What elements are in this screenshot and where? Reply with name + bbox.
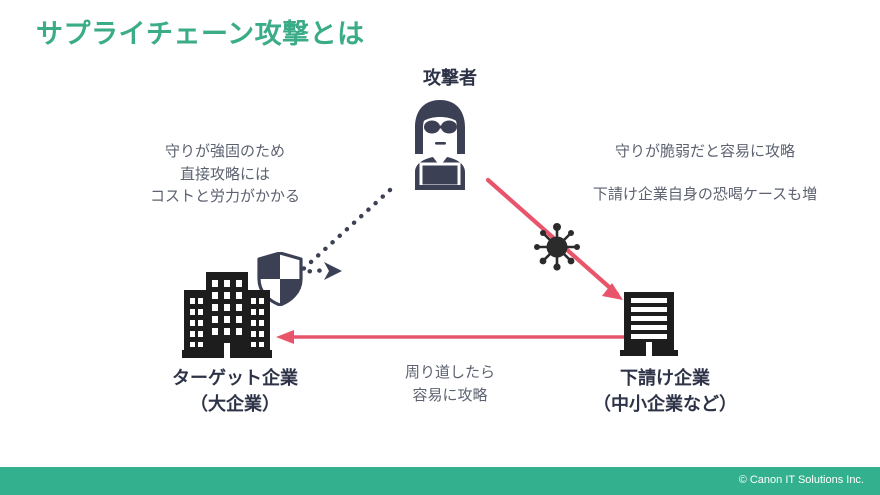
small-building-icon: [620, 292, 678, 356]
virus-icon: [532, 222, 582, 272]
office-building-icon: [182, 268, 272, 358]
supplier-company-label: 下請け企業 （中小企業など）: [550, 366, 780, 417]
note-right-top-text: 守りが脆弱だと容易に攻略: [545, 141, 865, 164]
attacker-label: 攻撃者: [350, 66, 550, 92]
note-center-text: 周り道したら 容易に攻略: [355, 362, 545, 407]
note-left-text: 守りが強固のため 直接攻略には コストと労力がかかる: [100, 141, 350, 209]
lateral-move-arrow: [276, 330, 624, 344]
hacker-at-laptop-icon: [397, 98, 483, 190]
target-company-label: ターゲット企業 （大企業）: [120, 366, 350, 417]
footer-bar: © Canon IT Solutions Inc.: [0, 467, 880, 495]
note-right-bottom-text: 下請け企業自身の恐喝ケースも増: [545, 184, 865, 207]
copyright-text: © Canon IT Solutions Inc.: [739, 474, 864, 486]
slide-canvas: サプライチェーン攻撃とは 攻撃者: [0, 0, 880, 495]
